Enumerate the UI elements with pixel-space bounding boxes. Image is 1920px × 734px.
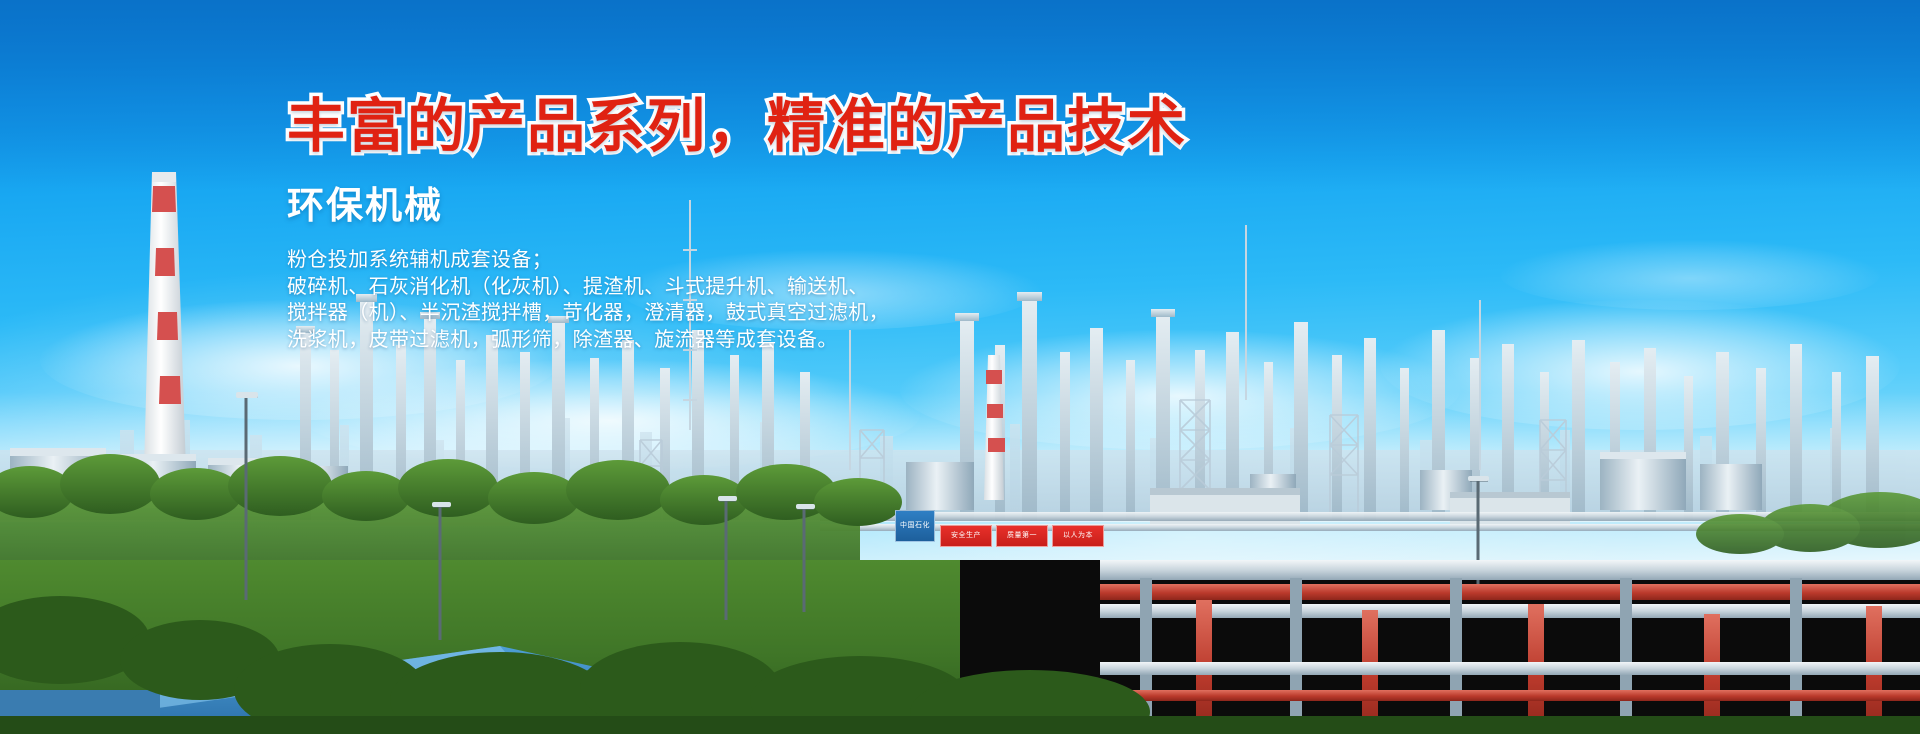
banner-headline: 丰富的产品系列，精准的产品技术 xyxy=(287,96,1187,157)
sign-people-oriented: 以人为本 xyxy=(1052,525,1104,547)
hero-banner: 安全生产 质量第一 以人为本 中国石化 丰富的产品系列，精准的产品技术 环保机械… xyxy=(0,0,1920,734)
striped-chimney xyxy=(144,172,186,470)
body-line-1: 粉仓投加系统辅机成套设备； xyxy=(287,246,1187,272)
body-line-3: 搅拌器（机）、半沉渣搅拌槽，苛化器，澄清器，鼓式真空过滤机， xyxy=(287,299,1187,325)
sign-sinopec: 中国石化 xyxy=(895,510,935,542)
banner-subtitle: 环保机械 xyxy=(287,175,1187,229)
banner-body: 粉仓投加系统辅机成套设备； 破碎机、石灰消化机（化灰机）、提渣机、斗式提升机、输… xyxy=(287,246,1187,352)
striped-chimney-2 xyxy=(984,355,1005,500)
body-line-2: 破碎机、石灰消化机（化灰机）、提渣机、斗式提升机、输送机、 xyxy=(287,273,1187,299)
foreground-pipe-rack xyxy=(1100,560,1920,734)
banner-copy: 丰富的产品系列，精准的产品技术 环保机械 粉仓投加系统辅机成套设备； 破碎机、石… xyxy=(287,96,1187,352)
sign-safety-production: 安全生产 xyxy=(940,525,992,547)
body-line-4: 洗浆机，皮带过滤机，弧形筛，除渣器、旋流器等成套设备。 xyxy=(287,326,1187,352)
sign-quality-first: 质量第一 xyxy=(996,525,1048,547)
